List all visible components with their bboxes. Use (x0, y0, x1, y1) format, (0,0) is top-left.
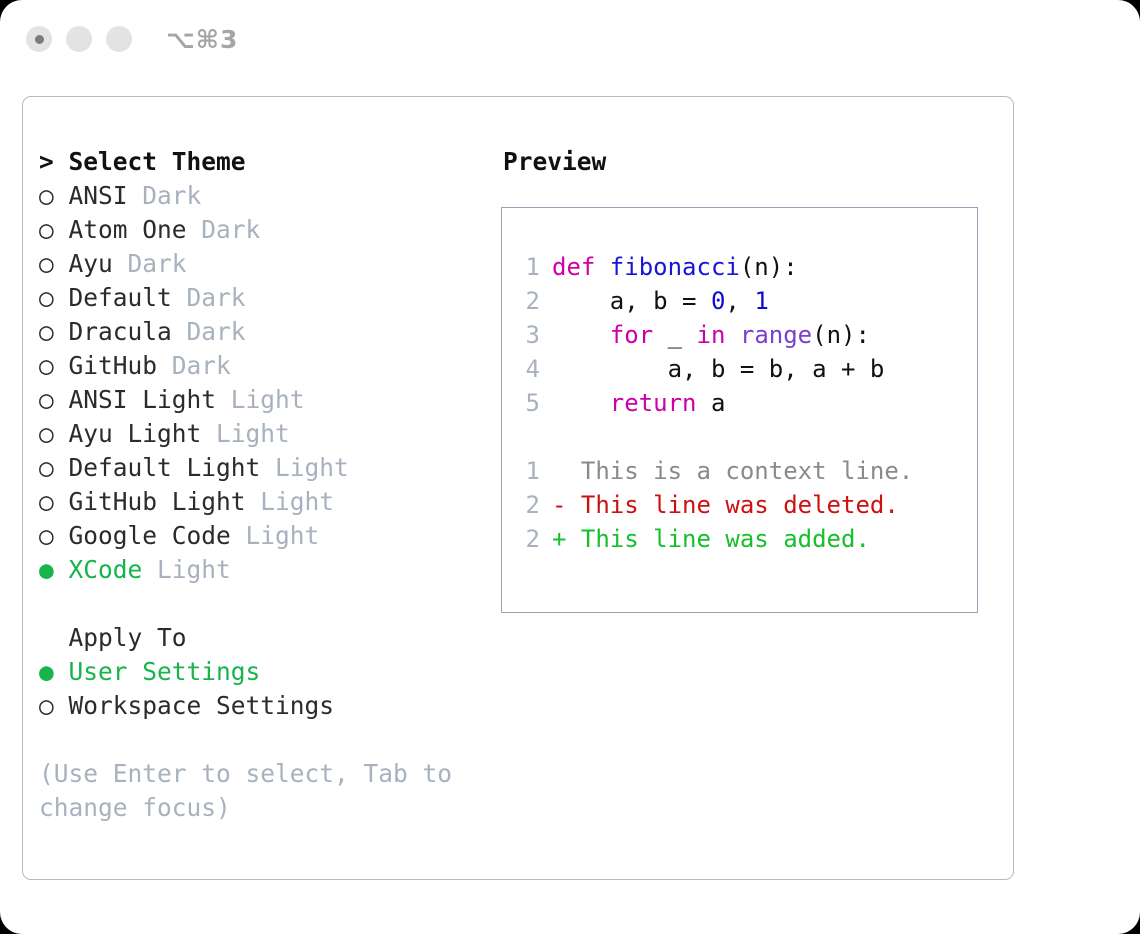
diff-line: 2- This line was deleted. (502, 488, 977, 522)
code-token (725, 321, 739, 349)
theme-item-variant-tag: Dark (157, 351, 231, 380)
radio-unselected-icon: ○ (39, 249, 69, 278)
line-number: 1 (518, 250, 540, 284)
theme-item-default-light[interactable]: ○ Default Light Light (39, 451, 493, 485)
code-line: 2 a, b = 0, 1 (502, 284, 977, 318)
diff-text: This line was added. (581, 525, 870, 553)
diff-text: This line was deleted. (581, 491, 899, 519)
theme-item-variant-tag: Dark (172, 283, 246, 312)
radio-unselected-icon: ○ (39, 691, 69, 720)
apply-to-item-label: Workspace Settings (69, 691, 335, 720)
code-token: (n): (740, 253, 798, 281)
theme-item-ansi[interactable]: ○ ANSI Dark (39, 179, 493, 213)
window-dot-third-icon[interactable] (106, 26, 132, 52)
theme-item-xcode[interactable]: ● XCode Light (39, 553, 493, 587)
diff-line: 2+ This line was added. (502, 522, 977, 556)
apply-to-list: ● User Settings○ Workspace Settings (39, 655, 493, 723)
theme-item-label: Google Code (69, 521, 231, 550)
theme-item-label: Ayu Light (69, 419, 202, 448)
code-token: a, b = (552, 287, 711, 315)
prompt-caret: > (39, 147, 69, 176)
theme-item-variant-tag: Light (216, 385, 305, 414)
radio-selected-icon: ● (39, 555, 69, 584)
theme-item-variant-tag: Light (142, 555, 231, 584)
select-theme-label: Select Theme (69, 147, 246, 176)
code-token: _ (653, 321, 696, 349)
radio-unselected-icon: ○ (39, 487, 69, 516)
diff-marker (552, 457, 581, 485)
spacer-after-themes (39, 587, 493, 621)
code-line: 3 for _ in range(n): (502, 318, 977, 352)
code-token: in (697, 321, 726, 349)
apply-to-item-workspace-settings[interactable]: ○ Workspace Settings (39, 689, 493, 723)
code-token: for (610, 321, 653, 349)
theme-item-variant-tag: Dark (172, 317, 246, 346)
theme-item-atom-one[interactable]: ○ Atom One Dark (39, 213, 493, 247)
code-token: a, b = b, a + b (552, 355, 884, 383)
code-token: 1 (754, 287, 768, 315)
line-number: 2 (518, 284, 540, 318)
radio-unselected-icon: ○ (39, 419, 69, 448)
code-line: 1def fibonacci(n): (502, 250, 977, 284)
radio-unselected-icon: ○ (39, 283, 69, 312)
theme-item-label: ANSI (69, 181, 128, 210)
code-token: (n): (812, 321, 870, 349)
code-token: a (697, 389, 726, 417)
card-panes: > Select Theme ○ ANSI Dark○ Atom One Dar… (23, 97, 1013, 879)
radio-unselected-icon: ○ (39, 215, 69, 244)
main-card: > Select Theme ○ ANSI Dark○ Atom One Dar… (22, 96, 1014, 880)
diff-line: 1 This is a context line. (502, 454, 977, 488)
theme-item-google-code[interactable]: ○ Google Code Light (39, 519, 493, 553)
code-token: range (740, 321, 812, 349)
theme-item-variant-tag: Light (231, 521, 320, 550)
theme-item-ansi-light[interactable]: ○ ANSI Light Light (39, 383, 493, 417)
theme-item-ayu-light[interactable]: ○ Ayu Light Light (39, 417, 493, 451)
radio-unselected-icon: ○ (39, 181, 69, 210)
code-token: return (610, 389, 697, 417)
spacer-after-apply (39, 723, 493, 757)
radio-unselected-icon: ○ (39, 521, 69, 550)
theme-item-label: Dracula (69, 317, 172, 346)
apply-to-item-user-settings[interactable]: ● User Settings (39, 655, 493, 689)
code-token (552, 389, 610, 417)
theme-item-label: GitHub (69, 351, 158, 380)
theme-item-label: GitHub Light (69, 487, 246, 516)
code-token (552, 321, 610, 349)
theme-item-variant-tag: Light (260, 453, 349, 482)
theme-item-label: ANSI Light (69, 385, 217, 414)
theme-picker-pane: > Select Theme ○ ANSI Dark○ Atom One Dar… (23, 97, 493, 879)
theme-item-label: Ayu (69, 249, 113, 278)
preview-pane: Preview 1def fibonacci(n):2 a, b = 0, 13… (493, 97, 1013, 879)
theme-item-label: XCode (69, 555, 143, 584)
diff-marker: + (552, 525, 581, 553)
keyboard-hint: (Use Enter to select, Tab to change focu… (39, 757, 459, 825)
radio-selected-icon: ● (39, 657, 69, 686)
theme-item-default[interactable]: ○ Default Dark (39, 281, 493, 315)
theme-item-github[interactable]: ○ GitHub Dark (39, 349, 493, 383)
theme-item-label: Default Light (69, 453, 261, 482)
theme-item-variant-tag: Dark (128, 181, 202, 210)
theme-item-variant-tag: Dark (187, 215, 261, 244)
theme-item-label: Atom One (69, 215, 187, 244)
code-preview-box: 1def fibonacci(n):2 a, b = 0, 13 for _ i… (501, 207, 978, 613)
code-line: 4 a, b = b, a + b (502, 352, 977, 386)
line-number: 2 (518, 522, 540, 556)
radio-unselected-icon: ○ (39, 453, 69, 482)
select-theme-header: > Select Theme (39, 145, 493, 179)
window-dot-active-icon[interactable] (26, 26, 52, 52)
apply-to-header: ○ Apply To (39, 621, 493, 655)
theme-item-ayu[interactable]: ○ Ayu Dark (39, 247, 493, 281)
code-sample: 1def fibonacci(n):2 a, b = 0, 13 for _ i… (502, 250, 977, 420)
preview-title: Preview (503, 145, 1013, 179)
app-window: ⌥⌘3 > Select Theme ○ ANSI Dark○ Atom One… (0, 0, 1140, 934)
theme-list: ○ ANSI Dark○ Atom One Dark○ Ayu Dark○ De… (39, 179, 493, 587)
theme-item-variant-tag: Light (246, 487, 335, 516)
window-dot-active-inner (35, 35, 44, 44)
window-dot-second-icon[interactable] (66, 26, 92, 52)
code-token: fibonacci (610, 253, 740, 281)
line-number: 5 (518, 386, 540, 420)
apply-to-item-label: User Settings (69, 657, 261, 686)
radio-unselected-icon: ○ (39, 351, 69, 380)
code-diff-gap (502, 420, 977, 454)
apply-to-label: Apply To (69, 623, 187, 652)
title-bar: ⌥⌘3 (0, 0, 1140, 78)
window-controls (26, 26, 132, 52)
line-number: 1 (518, 454, 540, 488)
code-line: 5 return a (502, 386, 977, 420)
theme-item-variant-tag: Dark (113, 249, 187, 278)
keyboard-shortcut-label: ⌥⌘3 (166, 25, 238, 54)
theme-item-variant-tag: Light (201, 419, 290, 448)
line-number: 3 (518, 318, 540, 352)
radio-unselected-icon: ○ (39, 385, 69, 414)
theme-item-dracula[interactable]: ○ Dracula Dark (39, 315, 493, 349)
diff-text: This is a context line. (581, 457, 913, 485)
diff-sample: 1 This is a context line.2- This line wa… (502, 454, 977, 556)
apply-to-marker-placeholder: ○ (39, 623, 69, 652)
theme-item-github-light[interactable]: ○ GitHub Light Light (39, 485, 493, 519)
line-number: 2 (518, 488, 540, 522)
code-token: 0 (711, 287, 725, 315)
diff-marker: - (552, 491, 581, 519)
theme-item-label: Default (69, 283, 172, 312)
line-number: 4 (518, 352, 540, 386)
radio-unselected-icon: ○ (39, 317, 69, 346)
code-token: def (552, 253, 610, 281)
code-token: , (725, 287, 754, 315)
